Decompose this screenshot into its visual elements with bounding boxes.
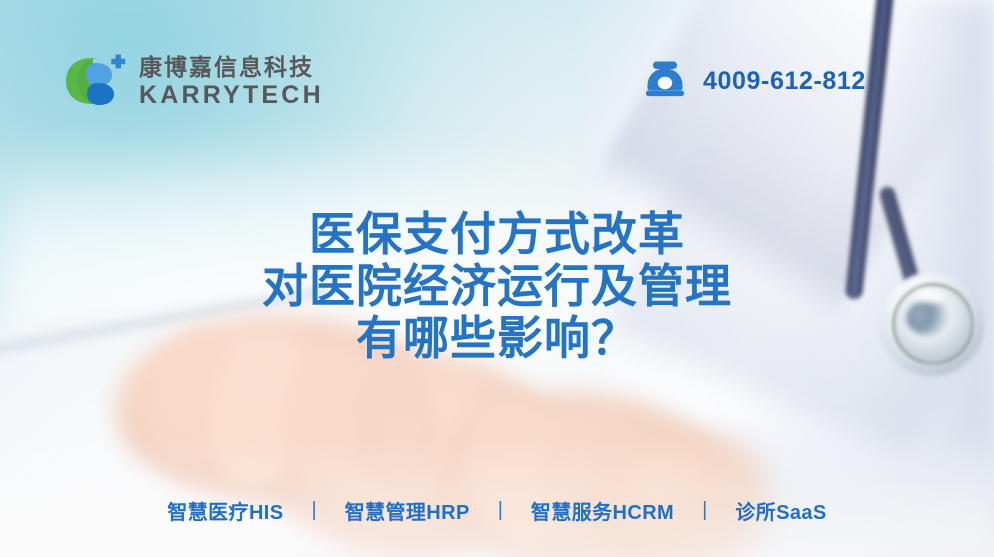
headline-line-2: 对医院经济运行及管理 — [0, 260, 994, 312]
footer-nav: 智慧医疗HIS | 智慧管理HRP | 智慧服务HCRM | 诊所SaaS — [0, 496, 994, 525]
footer-item-hrp[interactable]: 智慧管理HRP — [317, 496, 498, 525]
footer-item-saas[interactable]: 诊所SaaS — [707, 496, 854, 525]
footer-item-his[interactable]: 智慧医疗HIS — [139, 496, 311, 525]
headline-line-3: 有哪些影响？ — [0, 312, 994, 364]
contact-phone[interactable]: 4009-612-812 — [645, 60, 866, 103]
phone-number: 4009-612-812 — [703, 67, 866, 96]
promo-banner: 康博嘉信息科技 KARRYTECH 4009-612-812 — [0, 0, 994, 557]
brand-name-en: KARRYTECH — [139, 83, 324, 108]
footer-item-hcrm[interactable]: 智慧服务HCRM — [503, 496, 702, 525]
brand-name-cn: 康博嘉信息科技 — [139, 56, 324, 79]
telephone-icon — [645, 60, 685, 103]
karrytech-leaf-logo-icon — [62, 52, 126, 110]
headline: 医保支付方式改革 对医院经济运行及管理 有哪些影响？ — [0, 208, 994, 364]
headline-line-1: 医保支付方式改革 — [0, 208, 994, 260]
brand-logo[interactable]: 康博嘉信息科技 KARRYTECH — [62, 52, 324, 110]
